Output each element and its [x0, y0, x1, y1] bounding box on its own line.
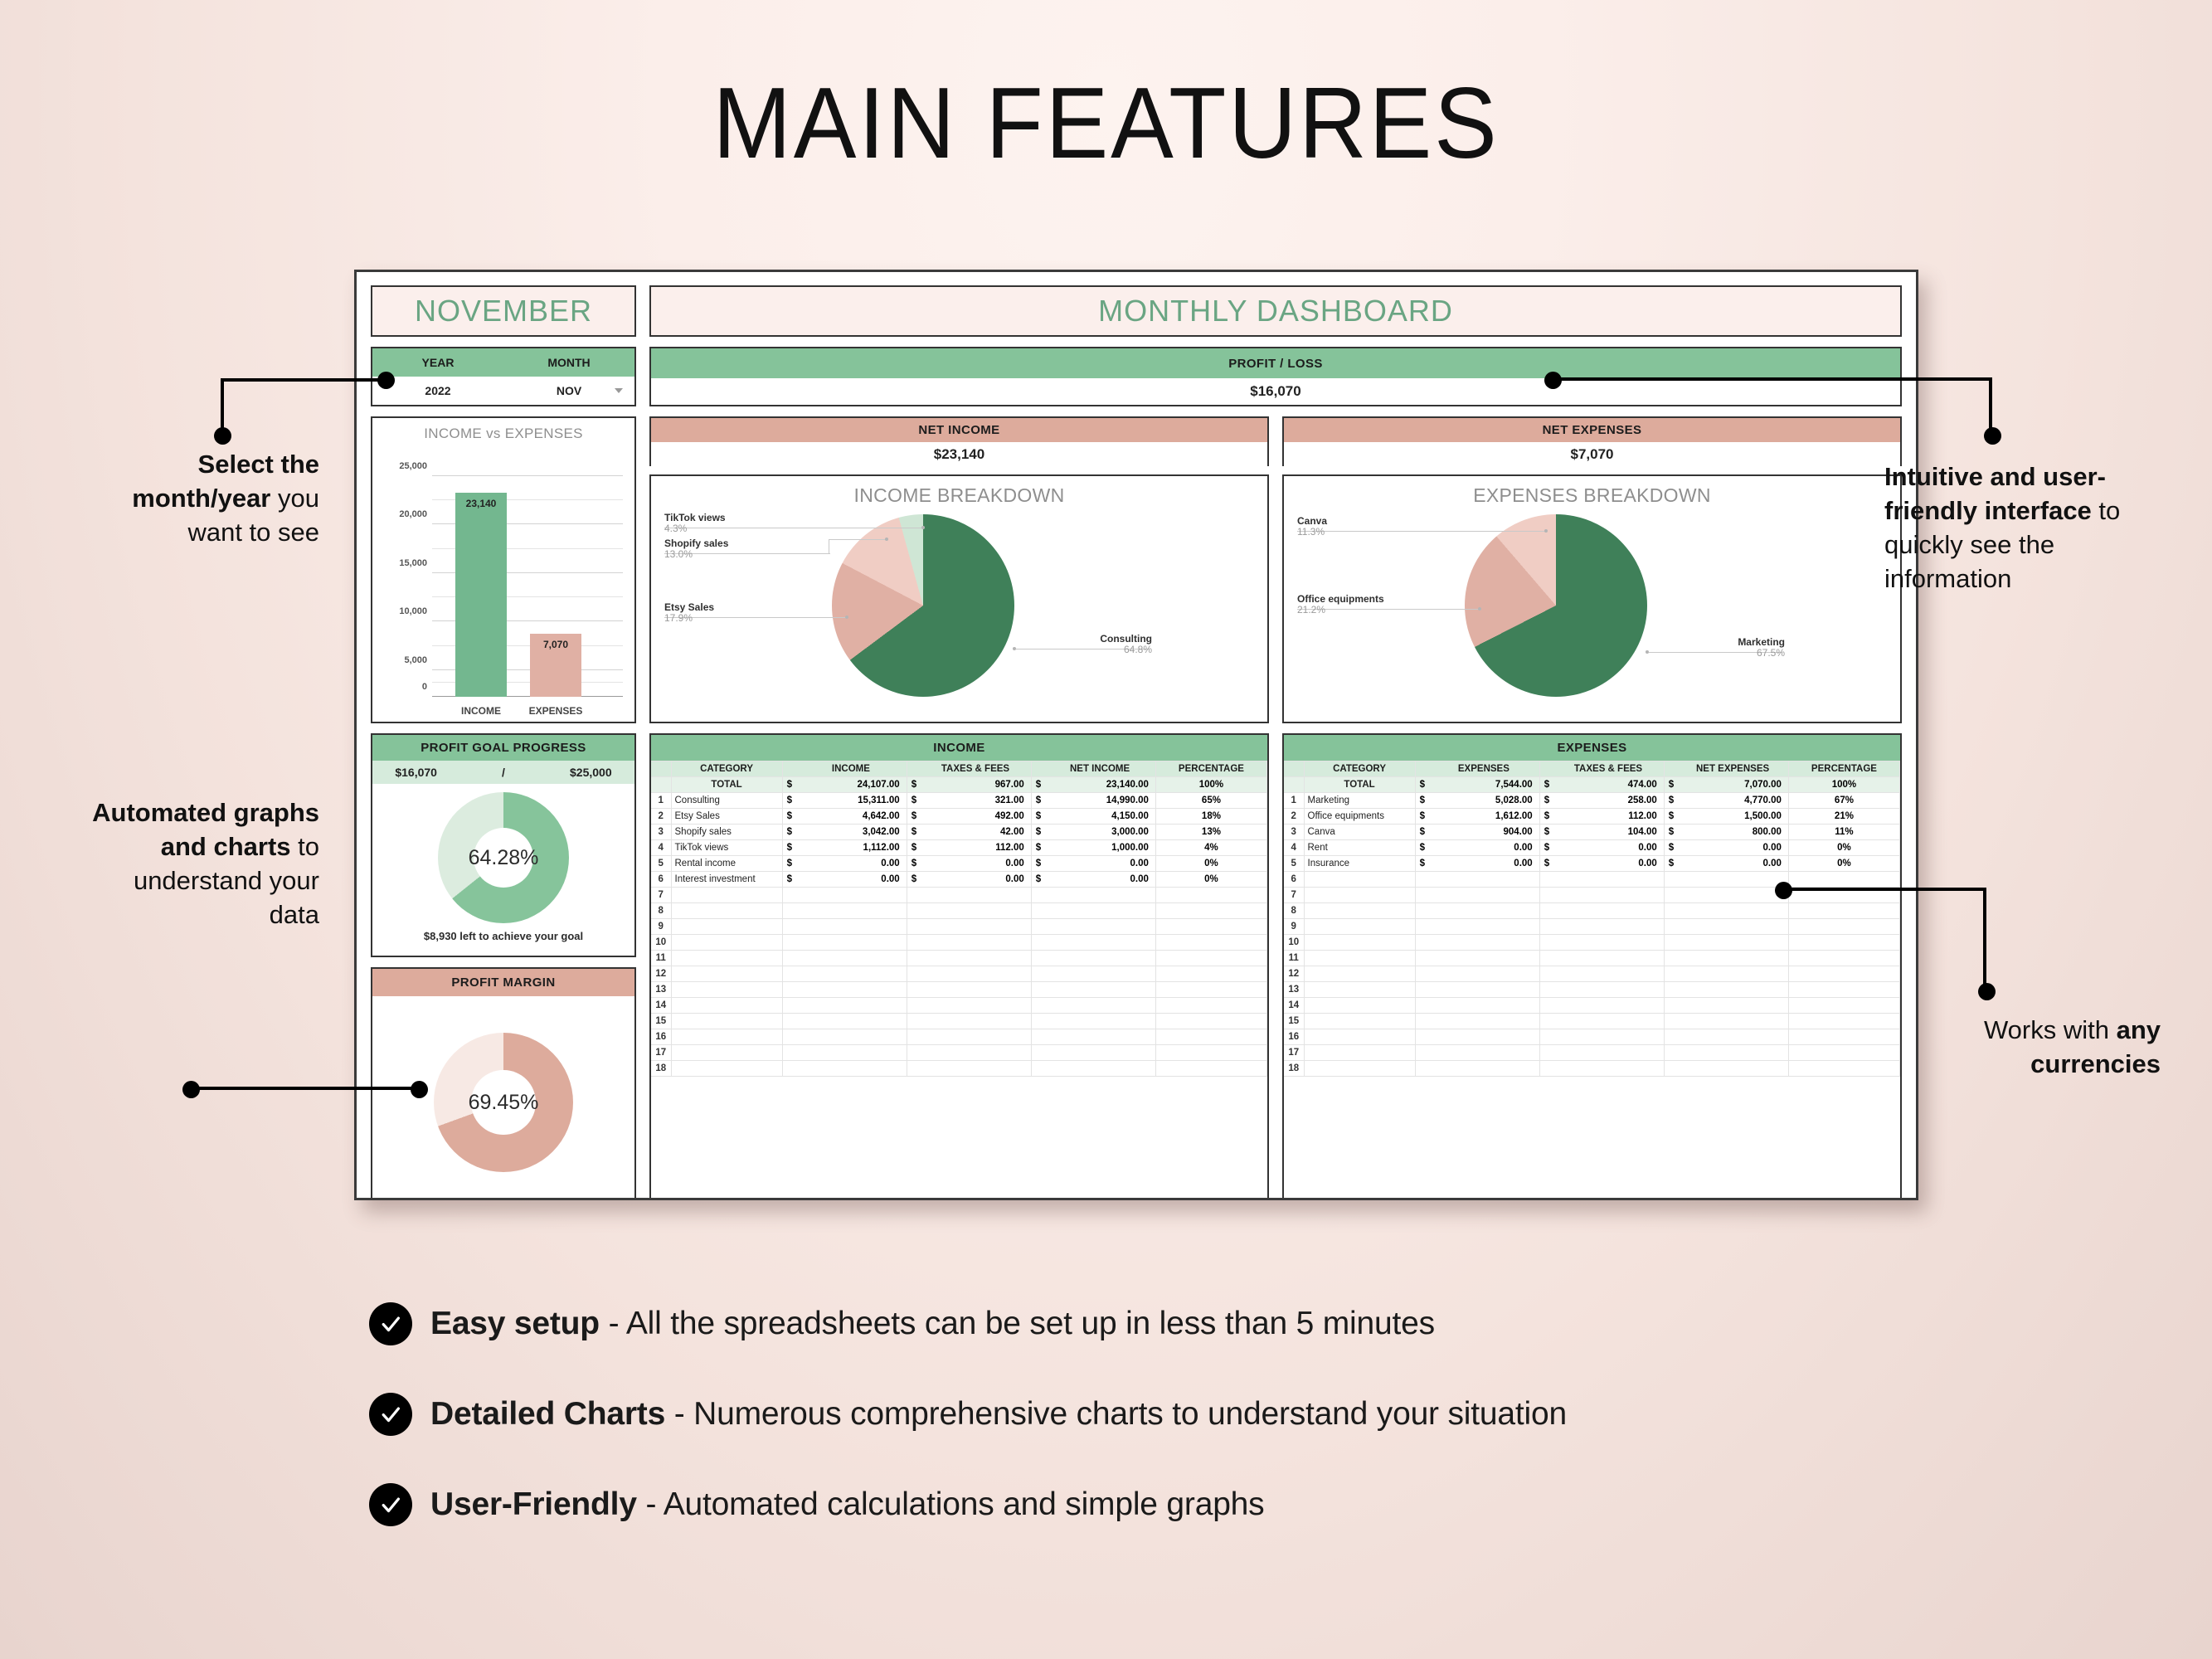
year-month-values: 2022 NOV — [372, 377, 634, 405]
net-income-label: NET INCOME — [651, 418, 1267, 442]
expenses-table-panel: EXPENSES CATEGORY EXPENSES TAXES & FEES … — [1282, 733, 1902, 1200]
row-net[interactable] — [1677, 951, 1788, 966]
feature-title: Detailed Charts — [430, 1396, 665, 1432]
row-net[interactable]: 3,000.00 — [1044, 825, 1155, 840]
income-vs-expenses-chart: INCOME vs EXPENSES 25,000 20,000 15,000 … — [371, 416, 636, 723]
table-row[interactable]: 5Rental income$0.00$0.00$0.000% — [651, 856, 1267, 872]
row-currency — [907, 919, 920, 935]
row-category[interactable] — [671, 1029, 782, 1045]
row-percentage — [1155, 1045, 1266, 1061]
row-taxes[interactable] — [1553, 1045, 1664, 1061]
row-taxes[interactable]: 258.00 — [1553, 793, 1664, 809]
row-taxes[interactable] — [1553, 1014, 1664, 1029]
profit-margin-donut[interactable]: 69.45% — [434, 1033, 573, 1172]
row-amount[interactable] — [1428, 935, 1539, 951]
row-category[interactable] — [1304, 872, 1415, 888]
row-net[interactable] — [1677, 919, 1788, 935]
row-taxes[interactable] — [920, 919, 1031, 935]
expenses-col-net: NET EXPENSES — [1677, 761, 1788, 777]
expenses-breakdown-chart: EXPENSES BREAKDOWN Canva 11.3% Office eq… — [1282, 474, 1902, 723]
row-amount[interactable] — [1428, 888, 1539, 903]
row-taxes[interactable]: 0.00 — [1553, 840, 1664, 856]
income-col-category: CATEGORY — [671, 761, 782, 777]
row-taxes[interactable] — [1553, 982, 1664, 998]
table-row[interactable]: 1Marketing$5,028.00$258.00$4,770.0067% — [1284, 793, 1900, 809]
row-net[interactable] — [1677, 982, 1788, 998]
row-amount[interactable] — [795, 1014, 907, 1029]
y-tick-5000: 5,000 — [372, 655, 427, 665]
row-taxes[interactable] — [920, 1061, 1031, 1077]
row-number: 11 — [1284, 951, 1304, 966]
pie-label-shopify: Shopify sales 13.0% — [664, 538, 728, 561]
row-net[interactable]: 14,990.00 — [1044, 793, 1155, 809]
profit-goal-footer: $8,930 left to achieve your goal — [372, 930, 634, 942]
row-net[interactable]: 4,150.00 — [1044, 809, 1155, 825]
row-currency: $ — [782, 793, 795, 809]
row-taxes[interactable]: 112.00 — [1553, 809, 1664, 825]
row-currency — [1539, 998, 1553, 1014]
row-taxes[interactable] — [1553, 966, 1664, 982]
row-percentage: 13% — [1155, 825, 1266, 840]
profit-goal-current: $16,070 — [372, 766, 459, 779]
row-number: 1 — [1284, 793, 1304, 809]
row-currency — [1664, 903, 1677, 919]
annotation-select-month-year: Select the month/year you want to see — [79, 448, 319, 550]
row-net[interactable]: 0.00 — [1044, 856, 1155, 872]
row-taxes[interactable] — [920, 1014, 1031, 1029]
y-tick-0: 0 — [372, 682, 427, 692]
income-col-taxes: TAXES & FEES — [920, 761, 1031, 777]
row-amount[interactable]: 3,042.00 — [795, 825, 907, 840]
row-currency — [1664, 998, 1677, 1014]
row-net[interactable] — [1677, 998, 1788, 1014]
table-row[interactable]: 10 — [651, 935, 1267, 951]
row-category[interactable] — [671, 903, 782, 919]
row-amount[interactable] — [795, 951, 907, 966]
row-amount[interactable] — [1428, 872, 1539, 888]
table-row[interactable]: 9 — [651, 919, 1267, 935]
row-net[interactable] — [1044, 903, 1155, 919]
feature-text: Easy setup - All the spreadsheets can be… — [430, 1306, 1435, 1342]
row-category[interactable]: Shopify sales — [671, 825, 782, 840]
row-currency: $ — [907, 872, 920, 888]
table-row[interactable]: 10 — [1284, 935, 1900, 951]
row-amount[interactable] — [1428, 982, 1539, 998]
row-net[interactable] — [1677, 1014, 1788, 1029]
row-taxes[interactable] — [1553, 951, 1664, 966]
bar-income[interactable]: 23,140 — [455, 493, 507, 697]
bottom-row: PROFIT GOAL PROGRESS $16,070 / $25,000 6… — [371, 733, 1902, 1200]
row-category[interactable] — [671, 919, 782, 935]
year-month-selector[interactable]: YEAR MONTH 2022 NOV — [371, 347, 636, 406]
row-net[interactable] — [1677, 872, 1788, 888]
row-currency: $ — [1664, 856, 1677, 872]
row-number: 6 — [1284, 872, 1304, 888]
annotation-intuitive-interface: Intuitive and user-friendly interface to… — [1884, 460, 2158, 596]
row-net[interactable] — [1677, 935, 1788, 951]
row-currency — [1415, 998, 1428, 1014]
row-currency — [1664, 935, 1677, 951]
row-net[interactable]: 1,000.00 — [1044, 840, 1155, 856]
row-currency: $ — [1031, 793, 1044, 809]
row-category[interactable] — [671, 1014, 782, 1029]
row-amount[interactable]: 0.00 — [795, 856, 907, 872]
table-row[interactable]: 9 — [1284, 919, 1900, 935]
row-amount[interactable] — [1428, 951, 1539, 966]
bar-expenses-value: 7,070 — [530, 639, 581, 650]
row-amount[interactable] — [795, 1029, 907, 1045]
row-taxes[interactable] — [1553, 1029, 1664, 1045]
table-row[interactable]: 4TikTok views$1,112.00$112.00$1,000.004% — [651, 840, 1267, 856]
row-taxes[interactable]: 112.00 — [920, 840, 1031, 856]
table-row[interactable]: 2Etsy Sales$4,642.00$492.00$4,150.0018% — [651, 809, 1267, 825]
row-taxes[interactable] — [1553, 888, 1664, 903]
expenses-col-category: CATEGORY — [1304, 761, 1415, 777]
row-category[interactable] — [671, 982, 782, 998]
row-category[interactable] — [1304, 966, 1415, 982]
row-amount[interactable]: 1,612.00 — [1428, 809, 1539, 825]
row-category[interactable] — [671, 951, 782, 966]
row-currency — [1031, 935, 1044, 951]
row-taxes[interactable]: 42.00 — [920, 825, 1031, 840]
annotation-right-bottom-pre: Works with — [1984, 1015, 2117, 1044]
row-number: 14 — [1284, 998, 1304, 1014]
table-row[interactable]: 12 — [1284, 966, 1900, 982]
row-amount[interactable] — [795, 919, 907, 935]
row-currency: $ — [907, 809, 920, 825]
row-number: 5 — [1284, 856, 1304, 872]
row-category[interactable]: Insurance — [1304, 856, 1415, 872]
row-net[interactable] — [1044, 935, 1155, 951]
selector-and-profit-row: YEAR MONTH 2022 NOV PROFIT / LOSS $16,07… — [371, 347, 1902, 406]
row-category[interactable]: Rent — [1304, 840, 1415, 856]
profit-goal-title: PROFIT GOAL PROGRESS — [372, 735, 634, 761]
row-number: 14 — [651, 998, 671, 1014]
y-tick-20000: 20,000 — [372, 509, 427, 519]
row-net[interactable]: 0.00 — [1677, 856, 1788, 872]
row-currency: $ — [1415, 825, 1428, 840]
income-table-panel: INCOME CATEGORY INCOME TAXES & FEES NET … — [649, 733, 1269, 1200]
income-total-pct: 100% — [1155, 777, 1266, 793]
row-taxes[interactable]: 492.00 — [920, 809, 1031, 825]
income-pie[interactable] — [832, 514, 1014, 697]
row-amount[interactable] — [1428, 998, 1539, 1014]
row-currency — [782, 1014, 795, 1029]
row-taxes[interactable] — [1553, 903, 1664, 919]
income-total-net: 23,140.00 — [1044, 777, 1155, 793]
row-percentage: 65% — [1155, 793, 1266, 809]
row-net[interactable] — [1677, 1061, 1788, 1077]
row-amount[interactable] — [1428, 1061, 1539, 1077]
expenses-col-percentage: PERCENTAGE — [1788, 761, 1899, 777]
table-row[interactable]: 14 — [651, 998, 1267, 1014]
table-row[interactable]: 17 — [651, 1045, 1267, 1061]
row-currency — [782, 1045, 795, 1061]
table-row[interactable]: 11 — [1284, 951, 1900, 966]
table-row[interactable]: 18 — [651, 1061, 1267, 1077]
row-taxes[interactable] — [920, 982, 1031, 998]
row-amount[interactable]: 5,028.00 — [1428, 793, 1539, 809]
row-net[interactable] — [1044, 1061, 1155, 1077]
expenses-panel: NET EXPENSES $7,070 EXPENSES BREAKDOWN C… — [1282, 416, 1902, 723]
expenses-total-taxes: 474.00 — [1553, 777, 1664, 793]
row-percentage — [1155, 998, 1266, 1014]
row-currency: $ — [1664, 840, 1677, 856]
row-net[interactable]: 4,770.00 — [1677, 793, 1788, 809]
row-net[interactable]: 0.00 — [1044, 872, 1155, 888]
income-table-title: INCOME — [651, 735, 1267, 761]
row-taxes[interactable] — [920, 888, 1031, 903]
table-row[interactable]: 3Shopify sales$3,042.00$42.00$3,000.0013… — [651, 825, 1267, 840]
row-net[interactable]: 1,500.00 — [1677, 809, 1788, 825]
row-net[interactable] — [1044, 1029, 1155, 1045]
table-row[interactable]: 1Consulting$15,311.00$321.00$14,990.0065… — [651, 793, 1267, 809]
row-category[interactable] — [1304, 935, 1415, 951]
row-number: 10 — [1284, 935, 1304, 951]
row-currency — [1415, 888, 1428, 903]
row-currency — [1031, 998, 1044, 1014]
profit-loss-card: PROFIT / LOSS $16,070 — [649, 347, 1902, 406]
row-net[interactable] — [1044, 1045, 1155, 1061]
row-net[interactable] — [1677, 1029, 1788, 1045]
row-category[interactable]: TikTok views — [671, 840, 782, 856]
row-category[interactable]: Rental income — [671, 856, 782, 872]
row-category[interactable] — [1304, 982, 1415, 998]
pie-label-office-equipments: Office equipments 21.2% — [1297, 594, 1384, 616]
table-row[interactable]: 2Office equipments$1,612.00$112.00$1,500… — [1284, 809, 1900, 825]
row-percentage — [1788, 982, 1899, 998]
row-currency — [1664, 872, 1677, 888]
table-row[interactable]: 8 — [1284, 903, 1900, 919]
row-currency: $ — [907, 840, 920, 856]
row-category[interactable]: Office equipments — [1304, 809, 1415, 825]
row-number: 2 — [651, 809, 671, 825]
row-taxes[interactable] — [1553, 1061, 1664, 1077]
chevron-down-icon[interactable] — [615, 388, 623, 393]
row-amount[interactable] — [1428, 1014, 1539, 1029]
row-taxes[interactable] — [920, 935, 1031, 951]
table-row[interactable]: 13 — [1284, 982, 1900, 998]
row-currency: $ — [1664, 793, 1677, 809]
row-taxes[interactable]: 0.00 — [920, 872, 1031, 888]
table-row[interactable]: 13 — [651, 982, 1267, 998]
table-row[interactable]: 8 — [651, 903, 1267, 919]
row-category[interactable] — [671, 966, 782, 982]
row-amount[interactable]: 0.00 — [1428, 856, 1539, 872]
row-currency — [782, 1029, 795, 1045]
table-row[interactable]: 14 — [1284, 998, 1900, 1014]
month-dropdown[interactable]: NOV — [503, 377, 634, 405]
row-amount[interactable]: 1,112.00 — [795, 840, 907, 856]
row-taxes[interactable] — [1553, 935, 1664, 951]
row-currency — [1539, 919, 1553, 935]
leader-canva — [1297, 531, 1546, 532]
leader-shopify-b — [829, 539, 829, 554]
table-row[interactable]: 5Insurance$0.00$0.00$0.000% — [1284, 856, 1900, 872]
dashboard-header-row: NOVEMBER MONTHLY DASHBOARD — [371, 285, 1902, 337]
row-currency: $ — [782, 872, 795, 888]
row-taxes[interactable] — [920, 1029, 1031, 1045]
row-amount[interactable]: 4,642.00 — [795, 809, 907, 825]
table-row[interactable]: 6Interest investment$0.00$0.00$0.000% — [651, 872, 1267, 888]
income-col-income: INCOME — [795, 761, 907, 777]
row-currency — [1031, 1061, 1044, 1077]
row-category[interactable] — [1304, 951, 1415, 966]
chart-title-income-breakdown: INCOME BREAKDOWN — [651, 476, 1267, 507]
row-currency — [1031, 1045, 1044, 1061]
bar-expenses[interactable]: 7,070 — [530, 634, 581, 697]
row-category[interactable]: Canva — [1304, 825, 1415, 840]
row-taxes[interactable] — [920, 1045, 1031, 1061]
table-row[interactable]: 3Canva$904.00$104.00$800.0011% — [1284, 825, 1900, 840]
profit-goal-donut[interactable]: 64.28% — [438, 792, 569, 923]
row-taxes[interactable]: 0.00 — [1553, 856, 1664, 872]
row-amount[interactable] — [795, 888, 907, 903]
row-category[interactable]: Consulting — [671, 793, 782, 809]
row-taxes[interactable] — [1553, 998, 1664, 1014]
row-category[interactable] — [1304, 998, 1415, 1014]
row-taxes[interactable] — [920, 998, 1031, 1014]
row-amount[interactable] — [1428, 1029, 1539, 1045]
profit-loss-label: PROFIT / LOSS — [651, 348, 1900, 378]
row-currency — [1539, 872, 1553, 888]
row-amount[interactable] — [795, 1061, 907, 1077]
row-number: 1 — [651, 793, 671, 809]
row-category[interactable]: Interest investment — [671, 872, 782, 888]
row-currency — [1415, 1029, 1428, 1045]
row-net[interactable] — [1677, 1045, 1788, 1061]
row-percentage — [1788, 919, 1899, 935]
table-row[interactable]: 4Rent$0.00$0.00$0.000% — [1284, 840, 1900, 856]
row-currency: $ — [907, 856, 920, 872]
row-category[interactable] — [1304, 903, 1415, 919]
row-net[interactable] — [1044, 982, 1155, 998]
row-currency — [1415, 966, 1428, 982]
row-amount[interactable] — [795, 982, 907, 998]
table-row[interactable]: 12 — [651, 966, 1267, 982]
row-category[interactable] — [1304, 1029, 1415, 1045]
table-row[interactable]: 11 — [651, 951, 1267, 966]
row-amount[interactable] — [1428, 903, 1539, 919]
table-row[interactable]: 17 — [1284, 1045, 1900, 1061]
row-net[interactable] — [1044, 919, 1155, 935]
table-row[interactable]: 15 — [1284, 1014, 1900, 1029]
row-taxes[interactable] — [920, 903, 1031, 919]
row-net[interactable] — [1677, 966, 1788, 982]
row-taxes[interactable] — [920, 966, 1031, 982]
row-category[interactable] — [671, 935, 782, 951]
row-net[interactable] — [1044, 888, 1155, 903]
row-currency: $ — [1031, 872, 1044, 888]
row-net[interactable]: 800.00 — [1677, 825, 1788, 840]
row-category[interactable] — [1304, 1045, 1415, 1061]
income-breakdown-chart: INCOME BREAKDOWN TikTok views 4.3% — [649, 474, 1269, 723]
row-currency — [782, 966, 795, 982]
row-amount[interactable]: 0.00 — [795, 872, 907, 888]
month-value: NOV — [557, 384, 581, 397]
row-category[interactable] — [671, 1045, 782, 1061]
row-taxes[interactable]: 104.00 — [1553, 825, 1664, 840]
income-table[interactable]: CATEGORY INCOME TAXES & FEES NET INCOME … — [651, 761, 1267, 1077]
row-currency — [1031, 888, 1044, 903]
expenses-pie[interactable] — [1465, 514, 1647, 697]
row-amount[interactable] — [1428, 919, 1539, 935]
row-currency — [907, 951, 920, 966]
row-taxes[interactable]: 321.00 — [920, 793, 1031, 809]
row-currency: $ — [1539, 793, 1553, 809]
row-currency — [907, 1029, 920, 1045]
row-amount[interactable]: 15,311.00 — [795, 793, 907, 809]
row-currency — [1539, 1061, 1553, 1077]
row-amount[interactable]: 0.00 — [1428, 840, 1539, 856]
month-title-cell[interactable]: NOVEMBER — [371, 285, 636, 337]
row-category[interactable] — [671, 1061, 782, 1077]
row-net[interactable] — [1044, 966, 1155, 982]
row-amount[interactable]: 904.00 — [1428, 825, 1539, 840]
row-net[interactable] — [1677, 903, 1788, 919]
row-amount[interactable] — [795, 903, 907, 919]
row-taxes[interactable] — [920, 951, 1031, 966]
row-net[interactable]: 0.00 — [1677, 840, 1788, 856]
row-category[interactable] — [671, 888, 782, 903]
row-category[interactable]: Marketing — [1304, 793, 1415, 809]
feature-desc: - All the spreadsheets can be set up in … — [600, 1306, 1435, 1341]
table-row[interactable]: 18 — [1284, 1061, 1900, 1077]
row-currency — [782, 903, 795, 919]
row-category[interactable] — [671, 998, 782, 1014]
row-number: 10 — [651, 935, 671, 951]
row-currency — [1031, 982, 1044, 998]
feature-item: Detailed Charts - Numerous comprehensive… — [369, 1393, 1862, 1436]
expenses-table[interactable]: CATEGORY EXPENSES TAXES & FEES NET EXPEN… — [1284, 761, 1900, 1077]
row-category[interactable] — [1304, 919, 1415, 935]
row-category[interactable] — [1304, 1061, 1415, 1077]
row-taxes[interactable] — [1553, 872, 1664, 888]
row-currency — [1031, 919, 1044, 935]
row-amount[interactable] — [795, 998, 907, 1014]
row-category[interactable]: Etsy Sales — [671, 809, 782, 825]
row-currency — [907, 1061, 920, 1077]
row-net[interactable] — [1044, 1014, 1155, 1029]
row-currency: $ — [1031, 809, 1044, 825]
row-category[interactable] — [1304, 888, 1415, 903]
row-percentage — [1788, 951, 1899, 966]
row-currency: $ — [1031, 856, 1044, 872]
row-amount[interactable] — [1428, 966, 1539, 982]
row-currency — [1415, 919, 1428, 935]
table-row[interactable]: 15 — [651, 1014, 1267, 1029]
row-percentage: 11% — [1788, 825, 1899, 840]
income-table-body: 1Consulting$15,311.00$321.00$14,990.0065… — [651, 793, 1267, 1077]
row-taxes[interactable] — [1553, 919, 1664, 935]
table-row[interactable]: 7 — [651, 888, 1267, 903]
table-row[interactable]: 6 — [1284, 872, 1900, 888]
row-amount[interactable] — [795, 1045, 907, 1061]
row-net[interactable] — [1044, 951, 1155, 966]
charts-row: INCOME vs EXPENSES 25,000 20,000 15,000 … — [371, 416, 1902, 723]
row-amount[interactable] — [795, 935, 907, 951]
row-net[interactable] — [1677, 888, 1788, 903]
row-net[interactable] — [1044, 998, 1155, 1014]
row-amount[interactable] — [795, 966, 907, 982]
table-row[interactable]: 16 — [1284, 1029, 1900, 1045]
year-label: YEAR — [372, 348, 503, 377]
table-row[interactable]: 16 — [651, 1029, 1267, 1045]
row-taxes[interactable]: 0.00 — [920, 856, 1031, 872]
row-amount[interactable] — [1428, 1045, 1539, 1061]
row-category[interactable] — [1304, 1014, 1415, 1029]
leader-shopify-c — [829, 539, 887, 540]
